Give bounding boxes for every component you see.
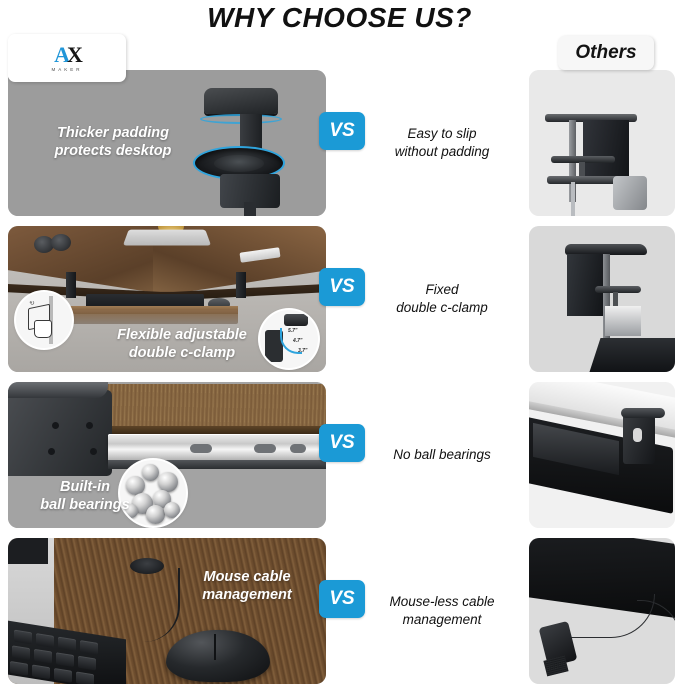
others-panel-padding	[529, 70, 675, 216]
vs-badge-3: VS	[319, 424, 365, 462]
ours-caption-cable: Mouse cable management	[172, 568, 322, 604]
theirs-caption-clamp: Fixed double c-clamp	[370, 226, 514, 372]
clamp-stem	[244, 202, 256, 216]
competitor-clamp-cutout	[633, 428, 642, 442]
headphone-cup-right	[51, 234, 71, 251]
rail-slot	[190, 444, 212, 453]
c-clamp-left	[66, 272, 76, 298]
clamp-top-plate	[204, 88, 278, 114]
ball-bearing	[158, 472, 178, 492]
ours-caption-clamp: Flexible adjustable double c-clamp	[92, 326, 272, 362]
competitor-body	[583, 120, 629, 182]
measurement-label-2: 4.7"	[293, 338, 302, 344]
bracket-hole	[90, 448, 97, 455]
comparison-grid: Thicker padding protects desktop VS Easy…	[0, 34, 679, 674]
ours-caption-bearings: Built-in ball bearings	[22, 478, 148, 514]
others-panel-bearings	[529, 382, 675, 528]
keyboard-key	[12, 645, 30, 660]
competitor-keyboard	[589, 338, 675, 372]
keyboard-key	[36, 633, 54, 648]
others-label-badge: Others	[558, 36, 654, 70]
brand-subtitle: MAKER	[51, 67, 82, 72]
others-panel-clamp	[529, 226, 675, 372]
mount-bracket	[8, 390, 112, 476]
headphones	[34, 234, 78, 254]
keyboard-key	[76, 671, 94, 684]
keyboard-tray	[70, 310, 238, 324]
rail-slot	[254, 444, 276, 453]
keyboard-key	[32, 664, 50, 679]
keyboard-key	[54, 668, 72, 683]
mouse-button-split	[214, 634, 216, 660]
brand-logo-mark: AX	[54, 45, 80, 65]
keyboard-key	[58, 637, 76, 652]
brand-logo-badge: AX MAKER	[8, 34, 126, 82]
keyboard-key	[56, 652, 74, 667]
monitor	[123, 230, 211, 246]
keyboard-key	[80, 640, 98, 655]
keyboard-key	[78, 656, 96, 671]
others-panel-cable	[529, 538, 675, 684]
ours-panel-bearings: Built-in ball bearings	[8, 382, 326, 528]
competitor-clamp-body	[567, 254, 605, 316]
competitor-foot	[613, 176, 647, 210]
comparison-row-clamp: ↻ 5.7" 4.7" 3.7" Flexible adjustable dou…	[0, 226, 679, 378]
ours-caption-padding: Thicker padding protects desktop	[38, 124, 188, 160]
comparison-row-padding: Thicker padding protects desktop VS Easy…	[0, 70, 679, 222]
competitor-clamp-lower	[605, 306, 641, 336]
vs-badge-4: VS	[319, 580, 365, 618]
wood-edge	[94, 426, 326, 434]
theirs-caption-cable: Mouse-less cable management	[370, 538, 514, 684]
keyboard-key	[14, 630, 32, 645]
bracket-hole	[48, 448, 55, 455]
measurement-label-3: 3.7"	[298, 348, 307, 354]
page-title: WHY CHOOSE US?	[0, 0, 679, 34]
ours-panel-cable: Mouse cable management	[8, 538, 326, 684]
competitor-rod	[571, 182, 575, 216]
ball-bearing	[146, 505, 165, 524]
vs-badge-2: VS	[319, 268, 365, 306]
competitor-clamp-top	[621, 408, 665, 418]
theirs-caption-padding: Easy to slip without padding	[370, 70, 514, 216]
vs-badge-1: VS	[319, 112, 365, 150]
bracket-hole	[86, 422, 93, 429]
ours-panel-clamp: ↻ 5.7" 4.7" 3.7" Flexible adjustable dou…	[8, 226, 326, 372]
wood-underside	[94, 384, 326, 430]
comparison-row-bearings: Built-in ball bearings VS No ball bearin…	[0, 382, 679, 534]
comparison-row-cable: Mouse cable management VS Mouse-less cab…	[0, 538, 679, 690]
mount-bracket-top	[8, 382, 108, 398]
brand-letter-a: A	[54, 42, 67, 67]
padding-disc-inner	[214, 155, 264, 172]
competitor-clamp-plate	[595, 286, 641, 293]
keyboard-key	[34, 649, 52, 664]
clamp-diagram-inset: ↻	[16, 292, 72, 348]
ball-bearing	[164, 502, 180, 518]
brand-letter-x: X	[67, 42, 80, 67]
infographic-root: WHY CHOOSE US? Thicker padding protects …	[0, 0, 679, 674]
c-clamp-right	[236, 272, 246, 298]
dark-corner	[8, 538, 48, 564]
ours-panel-padding: Thicker padding protects desktop	[8, 70, 326, 216]
competitor-lower-tray	[547, 176, 623, 184]
theirs-caption-bearings: No ball bearings	[370, 382, 514, 528]
measurement-label-1: 5.7"	[288, 328, 297, 334]
inset-product	[284, 314, 308, 326]
diagram-clamp-closed	[34, 320, 52, 338]
bracket-hole	[52, 422, 59, 429]
rail-slot	[290, 444, 306, 453]
